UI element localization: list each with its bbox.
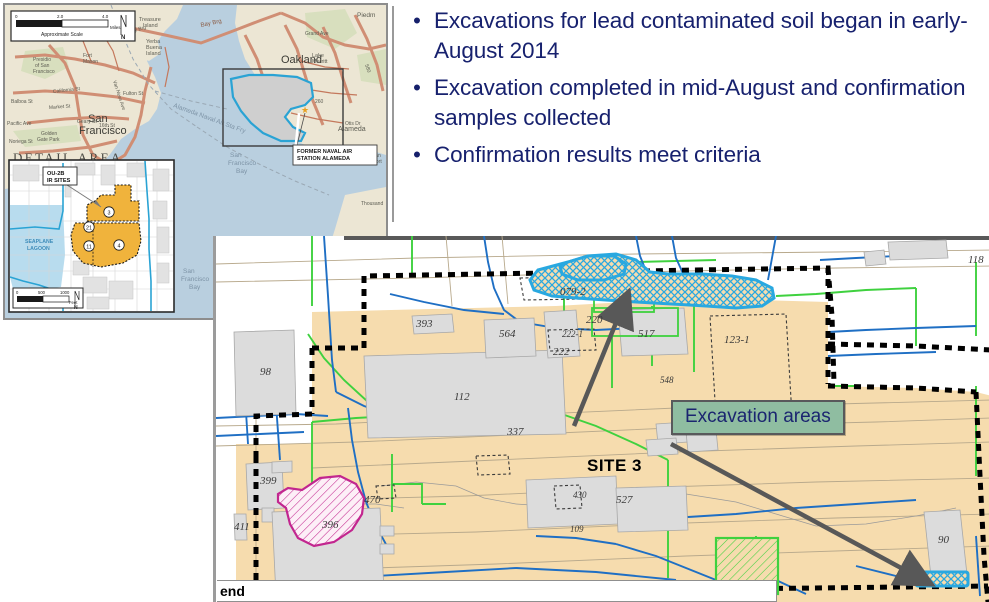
svg-text:Miles: Miles	[110, 25, 121, 30]
svg-text:Gate Park: Gate Park	[37, 137, 60, 143]
svg-text:Fulton St: Fulton St	[123, 91, 144, 97]
svg-text:San: San	[183, 268, 195, 275]
svg-text:Otis Dr: Otis Dr	[345, 121, 361, 127]
svg-text:Mason: Mason	[83, 59, 98, 65]
building-label: 222	[553, 346, 570, 358]
svg-text:Alameda: Alameda	[338, 126, 366, 133]
svg-text:16th St: 16th St	[99, 123, 115, 129]
svg-text:Francisco: Francisco	[181, 276, 210, 283]
svg-text:4.0: 4.0	[102, 14, 109, 19]
excavation-areas-callout: Excavation areas	[671, 400, 845, 435]
svg-text:Bay: Bay	[236, 168, 248, 175]
svg-text:IR SITES: IR SITES	[47, 178, 71, 184]
building-label: 98	[260, 366, 271, 378]
svg-text:1000: 1000	[60, 290, 70, 295]
svg-text:STATION ALAMEDA: STATION ALAMEDA	[297, 156, 350, 162]
bullet-text: Confirmation results meet criteria	[434, 140, 986, 170]
building-label: 517	[638, 328, 655, 340]
svg-text:Noriega St: Noriega St	[9, 139, 33, 145]
svg-text:21: 21	[86, 226, 92, 232]
svg-text:OU-2B: OU-2B	[47, 171, 64, 177]
building-label: 123-1	[724, 334, 750, 346]
bullet-text: Excavation completed in mid-August and c…	[434, 73, 986, 133]
building-label: 079-2	[560, 286, 586, 298]
building-label: 112	[454, 391, 470, 403]
svg-text:N: N	[74, 305, 78, 311]
bullet-item: • Excavations for lead contaminated soil…	[400, 6, 986, 66]
svg-text:Geary St: Geary St	[77, 119, 97, 125]
building-label: 399	[260, 475, 277, 487]
svg-text:4: 4	[118, 244, 121, 250]
svg-text:Bay: Bay	[189, 284, 201, 291]
bullet-item: • Confirmation results meet criteria	[400, 140, 986, 170]
svg-text:Thousand: Thousand	[361, 201, 383, 207]
building-label: 220	[586, 314, 603, 326]
svg-text:Approximate Scale: Approximate Scale	[41, 32, 83, 38]
svg-text:11: 11	[86, 245, 92, 251]
bullet-item: • Excavation completed in mid-August and…	[400, 73, 986, 133]
svg-text:Island: Island	[146, 51, 161, 57]
building-label: 411	[234, 521, 250, 533]
building-label: 396	[322, 519, 339, 531]
bullet-marker-icon: •	[400, 73, 434, 103]
bullet-list: • Excavations for lead contaminated soil…	[392, 6, 986, 222]
building-label: 337	[507, 426, 524, 438]
svg-text:Francisco: Francisco	[228, 160, 257, 167]
svg-text:260: 260	[315, 99, 324, 105]
bullet-marker-icon: •	[400, 6, 434, 36]
bullet-text: Excavations for lead contaminated soil b…	[434, 6, 986, 66]
svg-text:Pacific Ave: Pacific Ave	[7, 121, 32, 127]
site-3-label: SITE 3	[587, 456, 642, 476]
building-label: 222-1	[562, 329, 583, 339]
site-map-graphic	[216, 236, 989, 602]
building-label: 90	[938, 534, 949, 546]
regional-scale-bar: 0 2.0 4.0 Miles Approximate Scale N	[11, 11, 135, 41]
building-label: 118	[968, 254, 984, 266]
building-label: 470	[364, 494, 381, 506]
slide-canvas: Alameda Naval Air Sta Fry San Francisco …	[0, 0, 989, 602]
svg-text:Balboa St: Balboa St	[11, 99, 33, 105]
svg-text:3: 3	[108, 211, 111, 217]
svg-text:FORMER NAVAL AIR: FORMER NAVAL AIR	[297, 149, 352, 155]
site-3-map: 079-2 393 98 112 337 399 470 396 411 430…	[213, 236, 989, 602]
excavation-area-south	[916, 572, 968, 586]
detail-area-inset: 3 21 11 4 OU-2B IR SITES SEAPLANE LAGOON	[9, 160, 174, 312]
svg-text:Grand Ave: Grand Ave	[305, 31, 329, 37]
svg-text:Merritt: Merritt	[312, 59, 328, 65]
map-legend: end	[217, 580, 777, 602]
svg-text:SEAPLANE: SEAPLANE	[25, 239, 54, 245]
building-label: 109	[570, 524, 584, 534]
bullet-marker-icon: •	[400, 140, 434, 170]
svg-text:Francisco: Francisco	[33, 69, 55, 75]
building-label: 393	[416, 318, 433, 330]
building-label: 430	[573, 490, 587, 500]
building-label: 548	[660, 375, 674, 385]
svg-text:2.0: 2.0	[57, 14, 64, 19]
svg-text:N: N	[121, 35, 125, 41]
building-label: 564	[499, 328, 516, 340]
building-label: 527	[616, 494, 633, 506]
svg-text:500: 500	[38, 290, 46, 295]
svg-text:LAGOON: LAGOON	[27, 246, 50, 252]
svg-text:San: San	[230, 152, 242, 159]
svg-text:Piedm: Piedm	[357, 12, 375, 19]
